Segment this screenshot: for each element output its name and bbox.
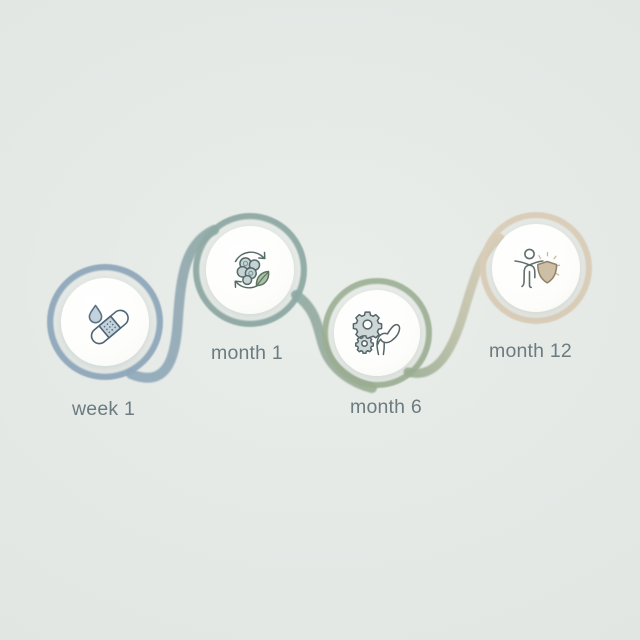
cell-regeneration-leaf-icon xyxy=(223,243,277,297)
node-disc-month-1 xyxy=(206,226,294,314)
node-disc-month-6 xyxy=(334,290,420,376)
node-label-month-1: month 1 xyxy=(211,342,283,365)
timeline-node-month-1[interactable] xyxy=(193,213,307,327)
bandage-droplet-icon xyxy=(79,296,131,348)
node-disc-week-1 xyxy=(61,278,149,366)
node-label-month-12: month 12 xyxy=(489,340,572,363)
node-label-week-1: week 1 xyxy=(72,398,135,421)
timeline-node-month-12[interactable] xyxy=(480,212,592,324)
timeline-node-month-6[interactable] xyxy=(322,278,432,388)
node-disc-month-12 xyxy=(492,224,580,312)
timeline-canvas: week 1 xyxy=(0,0,640,640)
timeline-node-week-1[interactable] xyxy=(47,264,163,380)
node-label-month-6: month 6 xyxy=(350,396,422,419)
gears-flexed-arm-icon xyxy=(351,307,403,359)
person-shield-icon xyxy=(509,241,563,295)
